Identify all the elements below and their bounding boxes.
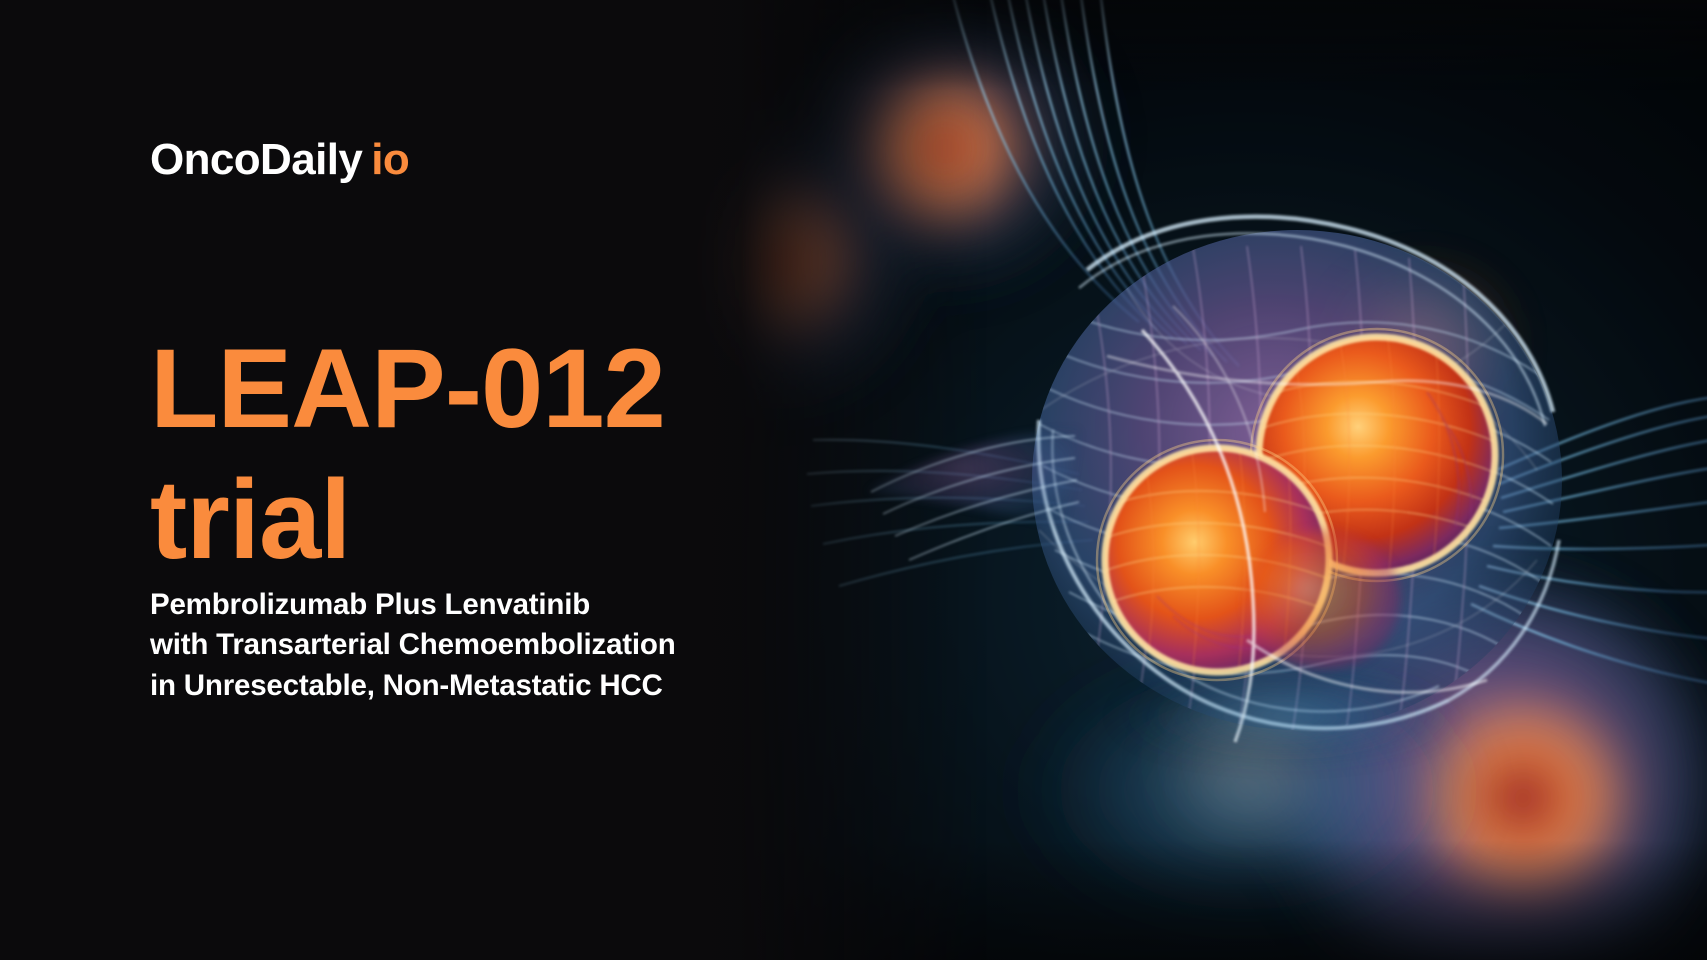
brand-logo[interactable]: OncoDailyio bbox=[150, 138, 409, 182]
brand-name: OncoDaily bbox=[150, 135, 362, 184]
subtitle-line-1: Pembrolizumab Plus Lenvatinib bbox=[150, 585, 810, 625]
page-title: LEAP-012 trial bbox=[150, 323, 790, 585]
page-subtitle: Pembrolizumab Plus Lenvatinib with Trans… bbox=[150, 585, 810, 706]
text-panel: OncoDailyio LEAP-012 trial Pembrolizumab… bbox=[0, 0, 830, 960]
cancer-cell-illustration bbox=[687, 0, 1707, 960]
headline-line-2: trial bbox=[150, 454, 790, 585]
brand-tld: io bbox=[371, 135, 409, 184]
subtitle-line-3: in Unresectable, Non-Metastatic HCC bbox=[150, 666, 810, 706]
subtitle-line-2: with Transarterial Chemoembolization bbox=[150, 625, 810, 665]
headline-line-1: LEAP-012 bbox=[150, 323, 790, 454]
poster-canvas: OncoDailyio LEAP-012 trial Pembrolizumab… bbox=[0, 0, 1707, 960]
